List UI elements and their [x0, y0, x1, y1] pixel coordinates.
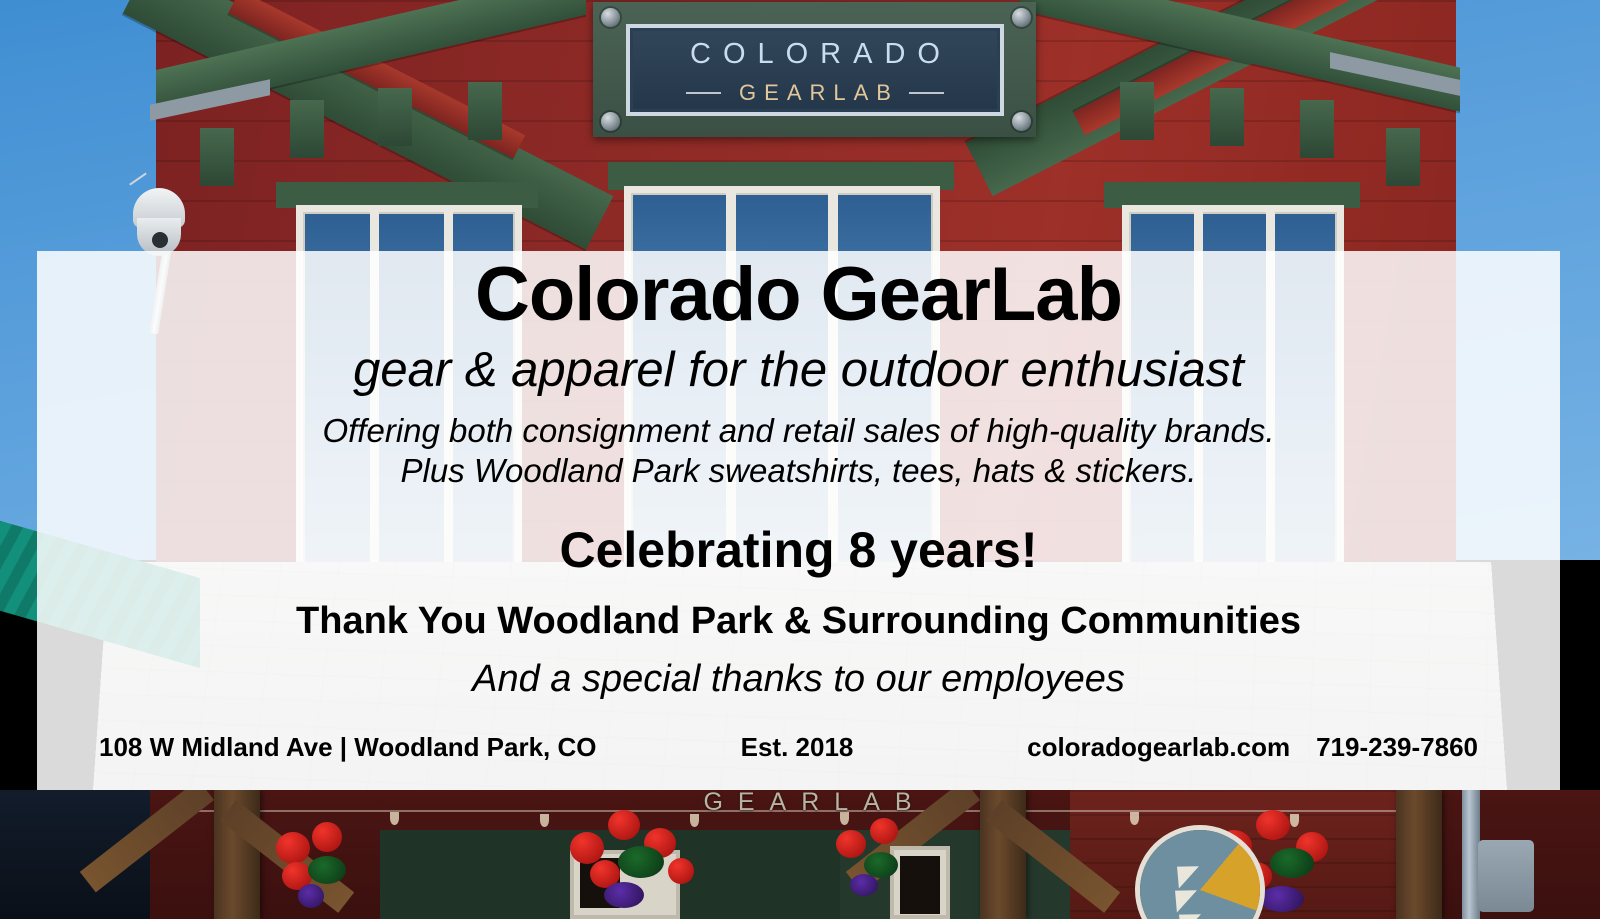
building-sign-secondary-text: GEARLAB: [731, 80, 899, 106]
street-sign-box: [1478, 840, 1534, 912]
timber-post: [1396, 790, 1442, 919]
sign-bolt-icon: [1012, 8, 1031, 27]
building-sign-primary-text: COLORADO: [626, 38, 1004, 71]
advertisement-image: COLORADO GEARLAB: [0, 0, 1600, 919]
string-light-icon: [540, 814, 549, 827]
ad-celebration-headline: Celebrating 8 years!: [37, 522, 1560, 578]
corbel: [1120, 82, 1154, 140]
ad-employee-thanks-line: And a special thanks to our employees: [37, 658, 1560, 701]
flower-basket: [830, 812, 980, 912]
ad-thank-you-line: Thank You Woodland Park & Surrounding Co…: [37, 600, 1560, 643]
footer-phone[interactable]: 719-239-7860: [1316, 732, 1478, 763]
sign-bolt-icon: [601, 112, 620, 131]
ad-footer: 108 W Midland Ave | Woodland Park, CO Es…: [37, 722, 1560, 772]
flower-basket: [560, 806, 710, 906]
ad-description-line-1: Offering both consignment and retail sal…: [37, 412, 1560, 450]
sign-bolt-icon: [601, 8, 620, 27]
storefront-gearlab-sign: GEARLAB: [600, 788, 1030, 817]
footer-established: Est. 2018: [657, 732, 937, 763]
corbel: [468, 82, 502, 140]
corbel: [378, 88, 412, 146]
corbel: [1210, 88, 1244, 146]
footer-contact: coloradogearlab.com 719-239-7860: [937, 732, 1560, 763]
sign-bolt-icon: [1012, 112, 1031, 131]
flower-basket: [268, 818, 418, 918]
string-light-icon: [1130, 812, 1139, 825]
building-sign-secondary-row: GEARLAB: [626, 80, 1004, 106]
ad-tagline: gear & apparel for the outdoor enthusias…: [37, 344, 1560, 398]
corbel: [1386, 128, 1420, 186]
ad-title: Colorado GearLab: [37, 252, 1560, 337]
footer-website[interactable]: coloradogearlab.com: [1027, 732, 1290, 763]
security-camera-lens-icon: [152, 232, 168, 248]
footer-address: 108 W Midland Ave | Woodland Park, CO: [37, 732, 657, 763]
corbel: [1300, 100, 1334, 158]
ad-description-line-2: Plus Woodland Park sweatshirts, tees, ha…: [37, 452, 1560, 490]
corbel: [290, 100, 324, 158]
corbel: [200, 128, 234, 186]
sign-dash-right: [909, 92, 944, 94]
sign-dash-left: [686, 92, 721, 94]
